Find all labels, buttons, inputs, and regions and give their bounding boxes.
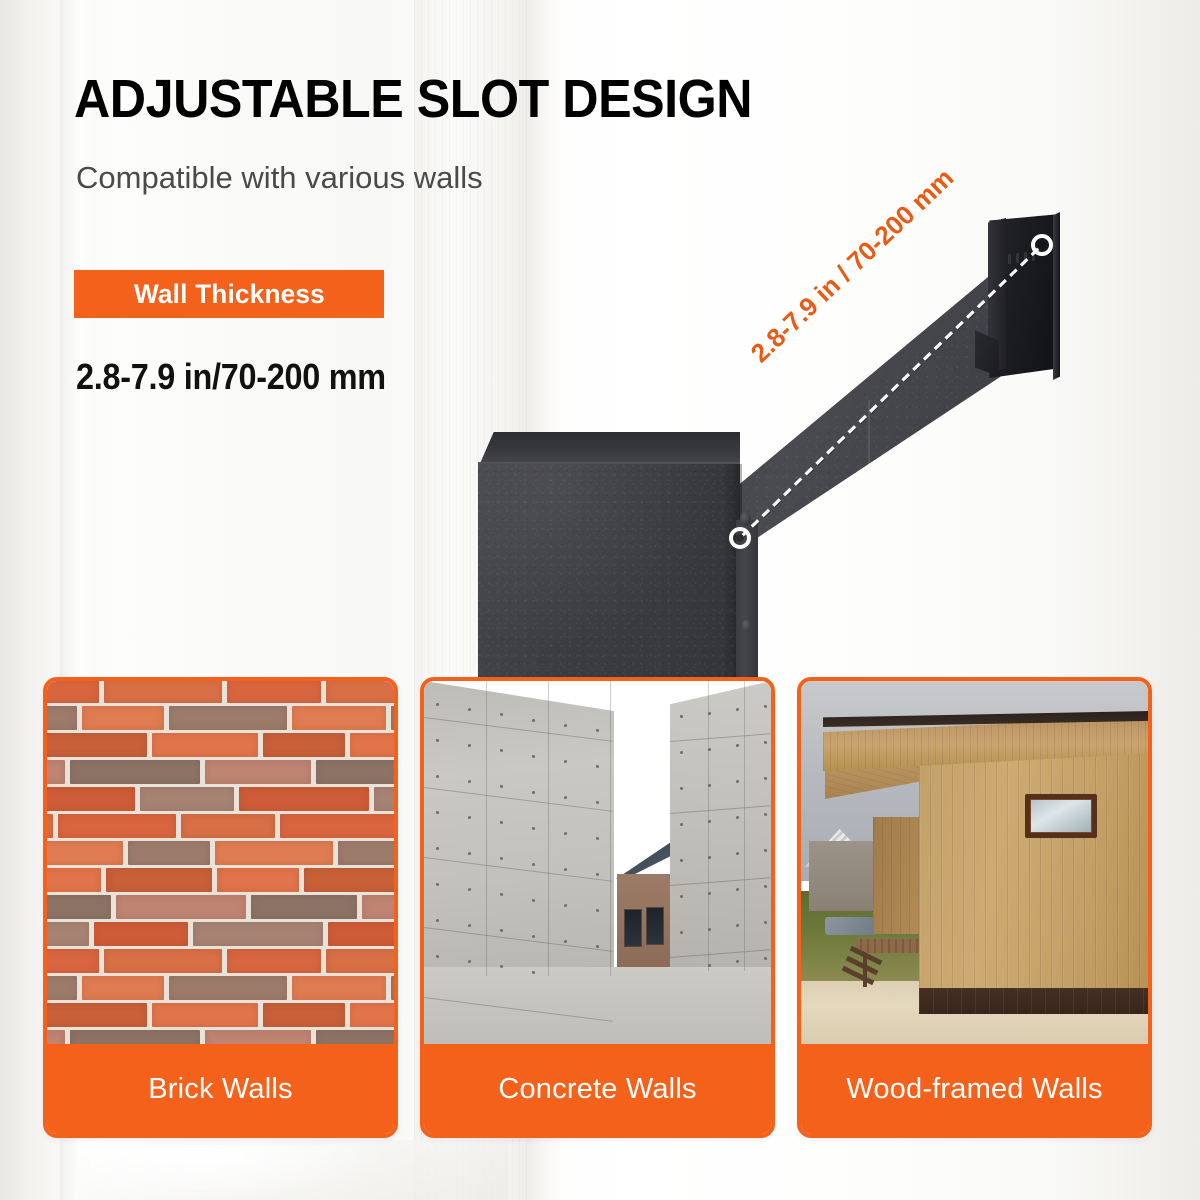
- wall-type-card-wood[interactable]: Wood-framed Walls: [797, 677, 1152, 1138]
- brick-unit: [47, 787, 135, 811]
- concrete-tie-hole: [764, 777, 767, 780]
- concrete-tie-hole: [680, 823, 683, 826]
- brick-unit: [350, 1003, 394, 1027]
- concrete-tie-hole: [764, 741, 767, 744]
- concrete-tie-hole: [436, 703, 439, 706]
- concrete-tie-hole: [680, 859, 683, 862]
- concrete-tie-hole: [532, 791, 535, 794]
- slot-range-dimension-line: [0, 0, 1200, 760]
- wall-type-panel-group: Brick Walls Concrete Walls: [0, 677, 1200, 1142]
- wall-type-caption-bar-brick: Brick Walls: [47, 1044, 394, 1134]
- marketing-graphic: ADJUSTABLE SLOT DESIGN Compatible with v…: [0, 0, 1200, 1200]
- concrete-ground: [424, 967, 771, 1044]
- concrete-tie-hole: [564, 724, 567, 727]
- brick-unit: [70, 1030, 200, 1044]
- concrete-tie-hole: [596, 765, 599, 768]
- brick-wall-photo: [47, 681, 394, 1044]
- concrete-tie-hole: [436, 847, 439, 850]
- wall-type-caption-bar-wood: Wood-framed Walls: [801, 1044, 1148, 1134]
- concrete-tie-hole: [564, 796, 567, 799]
- concrete-tie-hole: [764, 705, 767, 708]
- brick-unit: [292, 706, 386, 730]
- wood-wall-return: [873, 817, 921, 934]
- concrete-tie-hole: [764, 885, 767, 888]
- concrete-tie-hole: [532, 863, 535, 866]
- concrete-tie-hole: [564, 940, 567, 943]
- brick-unit: [239, 787, 369, 811]
- brick-unit: [326, 949, 394, 973]
- brick-unit: [47, 1030, 65, 1044]
- brick-unit: [391, 706, 394, 730]
- concrete-panel-right: [670, 681, 771, 971]
- concrete-tie-hole: [596, 909, 599, 912]
- wall-type-card-brick[interactable]: Brick Walls: [43, 677, 398, 1138]
- concrete-tie-hole: [596, 801, 599, 804]
- brick-unit: [70, 760, 200, 784]
- concrete-tie-hole: [764, 849, 767, 852]
- brick-unit: [328, 922, 394, 946]
- brick-unit: [47, 922, 89, 946]
- brick-unit: [292, 976, 386, 1000]
- brick-unit: [47, 1003, 147, 1027]
- concrete-panel-seam-vertical: [744, 681, 745, 971]
- brick-unit: [326, 681, 394, 703]
- concrete-tie-hole: [680, 787, 683, 790]
- brick-unit: [227, 681, 321, 703]
- concrete-tie-hole: [532, 935, 535, 938]
- concrete-panel-seam-vertical: [610, 681, 611, 976]
- concrete-tie-hole: [596, 873, 599, 876]
- brick-unit: [152, 733, 258, 757]
- brick-unit: [82, 706, 164, 730]
- brick-unit: [251, 895, 357, 919]
- brick-unit: [47, 814, 53, 838]
- wood-window-glass: [1030, 799, 1092, 833]
- brick-unit: [338, 841, 394, 865]
- brick-unit: [104, 681, 222, 703]
- wood-foundation-skirt: [919, 988, 1148, 1014]
- concrete-tie-hole: [596, 945, 599, 948]
- brick-unit: [58, 814, 176, 838]
- wood-deck-post: [863, 953, 867, 987]
- brick-unit: [227, 949, 321, 973]
- brick-unit: [374, 787, 394, 811]
- brick-unit: [47, 868, 101, 892]
- brick-unit: [47, 706, 77, 730]
- wall-type-caption-wood: Wood-framed Walls: [846, 1073, 1102, 1106]
- concrete-tie-hole: [596, 837, 599, 840]
- brick-unit: [169, 706, 287, 730]
- concrete-tie-hole: [436, 739, 439, 742]
- concrete-tie-hole: [436, 955, 439, 958]
- concrete-tie-hole: [680, 931, 683, 934]
- brick-unit: [47, 681, 99, 703]
- wall-type-caption-concrete: Concrete Walls: [498, 1073, 696, 1106]
- wall-type-card-concrete[interactable]: Concrete Walls: [420, 677, 775, 1138]
- brick-unit: [47, 895, 111, 919]
- brick-unit: [263, 1003, 345, 1027]
- brick-unit: [181, 814, 275, 838]
- brick-unit: [169, 976, 287, 1000]
- concrete-tie-hole: [764, 813, 767, 816]
- concrete-tie-hole: [436, 775, 439, 778]
- brick-unit: [316, 1030, 394, 1044]
- concrete-tie-hole: [764, 921, 767, 924]
- brick-unit: [47, 841, 123, 865]
- concrete-building-window: [624, 909, 642, 947]
- yard-debris: [825, 917, 877, 935]
- brick-unit: [47, 760, 65, 784]
- concrete-building-window: [646, 907, 664, 945]
- wall-type-caption-brick: Brick Walls: [148, 1073, 293, 1106]
- brick-unit: [128, 841, 210, 865]
- concrete-wall-photo: [424, 681, 771, 1044]
- brick-unit: [217, 868, 299, 892]
- wall-type-caption-bar-concrete: Concrete Walls: [424, 1044, 771, 1134]
- concrete-panel-seam-vertical: [708, 681, 709, 971]
- concrete-tie-hole: [532, 719, 535, 722]
- brick-unit: [82, 976, 164, 1000]
- brick-unit: [140, 787, 234, 811]
- brick-unit: [280, 814, 394, 838]
- brick-unit: [316, 760, 394, 784]
- concrete-panel-seam-vertical: [486, 681, 487, 976]
- brick-unit: [47, 976, 77, 1000]
- concrete-tie-hole: [532, 971, 535, 974]
- wood-siding-wall: [919, 741, 1148, 994]
- brick-unit: [47, 949, 99, 973]
- concrete-tie-hole: [564, 760, 567, 763]
- concrete-tie-hole: [764, 957, 767, 960]
- brick-unit: [193, 922, 323, 946]
- brick-unit: [106, 868, 212, 892]
- concrete-tie-hole: [564, 868, 567, 871]
- brick-unit: [205, 760, 311, 784]
- brick-unit: [116, 895, 246, 919]
- brick-unit: [205, 1030, 311, 1044]
- concrete-tie-hole: [532, 899, 535, 902]
- concrete-tie-hole: [436, 883, 439, 886]
- brick-unit: [47, 733, 147, 757]
- concrete-panel-seam-vertical: [548, 681, 549, 976]
- concrete-tie-hole: [680, 751, 683, 754]
- brick-unit: [152, 1003, 258, 1027]
- brick-unit: [391, 976, 394, 1000]
- concrete-tie-hole: [436, 811, 439, 814]
- wood-framed-wall-photo: [801, 681, 1148, 1044]
- concrete-tie-hole: [680, 895, 683, 898]
- concrete-tie-hole: [680, 715, 683, 718]
- concrete-tie-hole: [596, 729, 599, 732]
- brick-unit: [362, 895, 394, 919]
- brick-unit: [94, 922, 188, 946]
- concrete-panel-left: [424, 681, 614, 981]
- brick-unit: [104, 949, 222, 973]
- concrete-tie-hole: [532, 755, 535, 758]
- wood-wall-window: [1025, 794, 1097, 838]
- brick-unit: [263, 733, 345, 757]
- concrete-tie-hole: [436, 919, 439, 922]
- concrete-tie-hole: [564, 904, 567, 907]
- concrete-tie-hole: [532, 827, 535, 830]
- brick-unit: [350, 733, 394, 757]
- brick-unit: [215, 841, 333, 865]
- brick-unit: [304, 868, 394, 892]
- concrete-tie-hole: [564, 832, 567, 835]
